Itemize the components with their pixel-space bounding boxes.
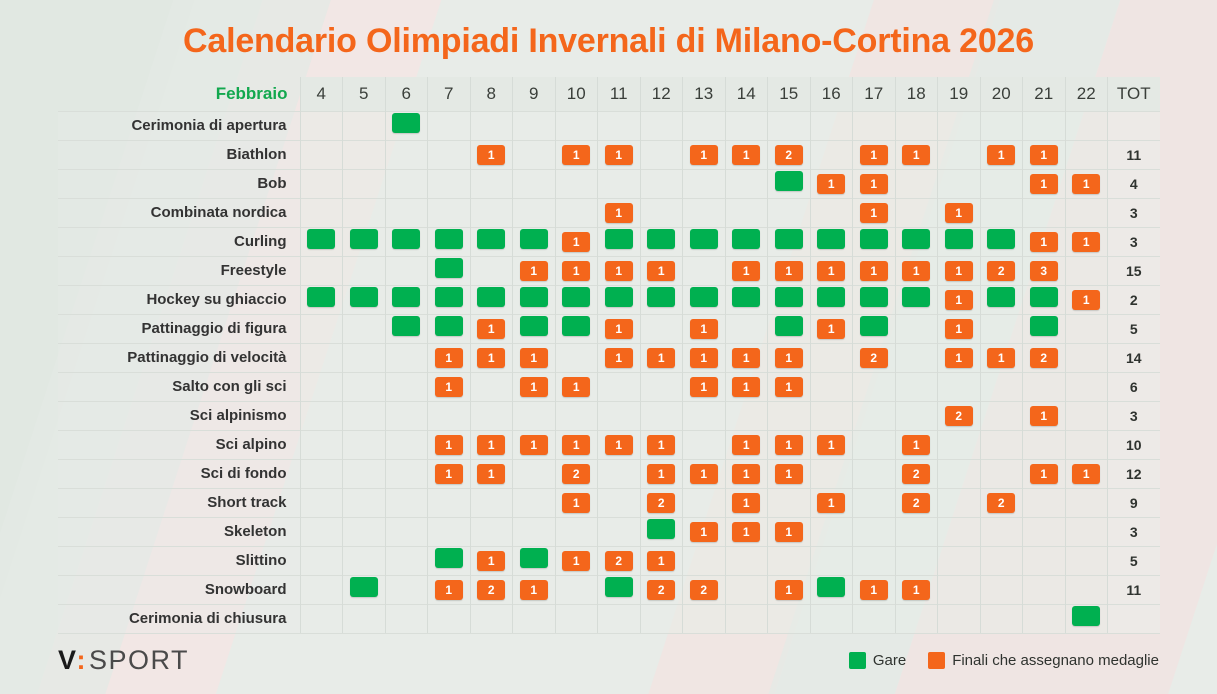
calendar-cell xyxy=(513,401,556,430)
calendar-cell[interactable]: 1 xyxy=(895,256,938,285)
calendar-cell[interactable]: 1 xyxy=(810,430,853,459)
calendar-cell[interactable]: 1 xyxy=(980,140,1023,169)
calendar-cell[interactable]: 2 xyxy=(555,459,598,488)
calendar-cell[interactable] xyxy=(895,227,938,256)
calendar-cell[interactable]: 1 xyxy=(853,140,896,169)
calendar-cell xyxy=(1023,430,1066,459)
calendar-cell[interactable]: 1 xyxy=(555,140,598,169)
calendar-cell[interactable]: 2 xyxy=(640,575,683,604)
row-total xyxy=(1108,111,1160,140)
calendar-cell[interactable]: 2 xyxy=(980,256,1023,285)
calendar-cell xyxy=(725,575,768,604)
calendar-cell[interactable]: 1 xyxy=(640,343,683,372)
calendar-cell[interactable]: 1 xyxy=(555,546,598,575)
day-header-15: 15 xyxy=(768,77,811,111)
calendar-cell[interactable]: 1 xyxy=(428,372,471,401)
calendar-infographic: Calendario Olimpiadi Invernali di Milano… xyxy=(0,0,1217,694)
calendar-cell[interactable]: 1 xyxy=(683,314,726,343)
calendar-cell[interactable]: 1 xyxy=(725,459,768,488)
gare-chip xyxy=(1030,316,1058,336)
finale-chip: 1 xyxy=(647,261,675,281)
calendar-cell xyxy=(428,604,471,633)
calendar-cell[interactable]: 1 xyxy=(768,256,811,285)
finale-chip: 1 xyxy=(775,522,803,542)
row-total: 6 xyxy=(1108,372,1160,401)
calendar-cell[interactable]: 1 xyxy=(768,575,811,604)
gare-chip xyxy=(817,577,845,597)
calendar-cell xyxy=(1023,604,1066,633)
finale-chip: 1 xyxy=(605,203,633,223)
gare-chip xyxy=(732,229,760,249)
table-row: Pattinaggio di figura111115 xyxy=(58,314,1160,343)
calendar-cell[interactable] xyxy=(343,285,386,314)
calendar-cell[interactable]: 1 xyxy=(725,517,768,546)
table-row: Skeleton1113 xyxy=(58,517,1160,546)
calendar-cell[interactable]: 1 xyxy=(853,575,896,604)
calendar-cell[interactable] xyxy=(428,285,471,314)
calendar-cell[interactable] xyxy=(640,517,683,546)
calendar-cell xyxy=(385,169,428,198)
calendar-cell[interactable] xyxy=(725,285,768,314)
calendar-cell[interactable]: 1 xyxy=(513,575,556,604)
sport-label: Freestyle xyxy=(58,256,300,285)
calendar-cell[interactable]: 1 xyxy=(640,459,683,488)
month-label: Febbraio xyxy=(58,77,300,111)
calendar-cell xyxy=(1065,401,1108,430)
finale-chip: 2 xyxy=(605,551,633,571)
calendar-cell[interactable] xyxy=(385,285,428,314)
calendar-cell[interactable]: 1 xyxy=(1065,227,1108,256)
calendar-cell xyxy=(853,517,896,546)
calendar-cell[interactable]: 1 xyxy=(938,256,981,285)
calendar-cell[interactable] xyxy=(1023,285,1066,314)
gare-chip xyxy=(902,229,930,249)
calendar-cell[interactable]: 1 xyxy=(1023,169,1066,198)
calendar-cell xyxy=(1065,256,1108,285)
calendar-cell[interactable] xyxy=(640,227,683,256)
calendar-cell xyxy=(555,111,598,140)
calendar-cell xyxy=(598,517,641,546)
gare-chip xyxy=(690,229,718,249)
row-total: 9 xyxy=(1108,488,1160,517)
gare-chip xyxy=(817,229,845,249)
calendar-cell[interactable] xyxy=(513,285,556,314)
calendar-cell[interactable]: 1 xyxy=(428,430,471,459)
calendar-cell xyxy=(555,517,598,546)
calendar-cell[interactable]: 1 xyxy=(513,256,556,285)
calendar-cell[interactable] xyxy=(428,314,471,343)
calendar-cell xyxy=(428,169,471,198)
calendar-cell[interactable]: 1 xyxy=(598,198,641,227)
calendar-cell[interactable]: 3 xyxy=(1023,256,1066,285)
calendar-cell[interactable]: 2 xyxy=(853,343,896,372)
calendar-cell[interactable]: 1 xyxy=(428,343,471,372)
calendar-cell xyxy=(343,459,386,488)
calendar-cell[interactable]: 1 xyxy=(555,256,598,285)
calendar-cell[interactable] xyxy=(343,227,386,256)
table-row: Combinata nordica1113 xyxy=(58,198,1160,227)
gare-chip xyxy=(435,229,463,249)
calendar-cell[interactable] xyxy=(853,227,896,256)
calendar-cell[interactable]: 1 xyxy=(725,256,768,285)
finale-chip: 1 xyxy=(902,580,930,600)
calendar-cell[interactable]: 1 xyxy=(555,488,598,517)
calendar-cell[interactable] xyxy=(513,314,556,343)
calendar-cell[interactable] xyxy=(853,314,896,343)
calendar-cell[interactable] xyxy=(938,227,981,256)
calendar-cell[interactable] xyxy=(428,227,471,256)
calendar-cell[interactable] xyxy=(853,285,896,314)
calendar-cell xyxy=(385,575,428,604)
calendar-cell[interactable]: 1 xyxy=(470,546,513,575)
finale-chip: 1 xyxy=(520,348,548,368)
calendar-cell[interactable]: 1 xyxy=(470,459,513,488)
calendar-cell[interactable]: 1 xyxy=(810,256,853,285)
day-header-19: 19 xyxy=(938,77,981,111)
sport-label: Hockey su ghiaccio xyxy=(58,285,300,314)
calendar-cell[interactable]: 1 xyxy=(768,459,811,488)
gare-chip xyxy=(562,287,590,307)
calendar-cell[interactable]: 1 xyxy=(598,314,641,343)
calendar-cell[interactable] xyxy=(385,111,428,140)
calendar-cell[interactable]: 1 xyxy=(470,314,513,343)
calendar-cell[interactable] xyxy=(768,314,811,343)
calendar-cell[interactable]: 1 xyxy=(683,517,726,546)
finale-chip: 1 xyxy=(1072,290,1100,310)
calendar-cell xyxy=(895,401,938,430)
gare-chip xyxy=(605,577,633,597)
calendar-cell[interactable] xyxy=(513,546,556,575)
calendar-cell[interactable]: 1 xyxy=(725,372,768,401)
gare-chip xyxy=(350,577,378,597)
finale-chip: 1 xyxy=(435,464,463,484)
calendar-cell xyxy=(428,517,471,546)
finale-chip: 1 xyxy=(562,435,590,455)
calendar-cell[interactable]: 1 xyxy=(513,430,556,459)
finale-chip: 1 xyxy=(945,348,973,368)
sport-label: Combinata nordica xyxy=(58,198,300,227)
calendar-cell xyxy=(385,604,428,633)
calendar-cell[interactable] xyxy=(683,285,726,314)
finale-chip: 1 xyxy=(775,580,803,600)
calendar-cell[interactable] xyxy=(810,227,853,256)
finale-chip: 1 xyxy=(435,348,463,368)
finale-chip: 2 xyxy=(987,261,1015,281)
calendar-cell xyxy=(343,372,386,401)
finale-chip: 1 xyxy=(690,522,718,542)
calendar-cell[interactable]: 1 xyxy=(895,575,938,604)
gare-chip xyxy=(987,229,1015,249)
table-row: Pattinaggio di velocità11111111211214 xyxy=(58,343,1160,372)
calendar-cell[interactable] xyxy=(810,285,853,314)
calendar-cell xyxy=(513,604,556,633)
calendar-cell[interactable]: 1 xyxy=(853,256,896,285)
calendar-cell[interactable]: 1 xyxy=(428,575,471,604)
calendar-cell[interactable]: 1 xyxy=(470,140,513,169)
calendar-cell[interactable]: 1 xyxy=(598,256,641,285)
finale-chip: 2 xyxy=(902,464,930,484)
calendar-cell[interactable] xyxy=(470,227,513,256)
calendar-cell xyxy=(853,111,896,140)
calendar-cell[interactable]: 2 xyxy=(938,401,981,430)
calendar-cell xyxy=(300,430,343,459)
calendar-cell[interactable] xyxy=(768,285,811,314)
finale-chip: 1 xyxy=(647,551,675,571)
sport-label: Skeleton xyxy=(58,517,300,546)
finale-chip: 1 xyxy=(477,319,505,339)
calendar-cell xyxy=(300,343,343,372)
sport-label: Pattinaggio di figura xyxy=(58,314,300,343)
legend-swatch-finali-icon xyxy=(928,652,945,669)
calendar-cell[interactable] xyxy=(980,285,1023,314)
gare-chip xyxy=(307,229,335,249)
calendar-cell xyxy=(1023,546,1066,575)
calendar-cell xyxy=(385,488,428,517)
calendar-cell[interactable]: 2 xyxy=(640,488,683,517)
calendar-cell[interactable] xyxy=(300,285,343,314)
calendar-cell[interactable]: 2 xyxy=(980,488,1023,517)
calendar-cell[interactable]: 1 xyxy=(1065,285,1108,314)
calendar-cell[interactable] xyxy=(598,575,641,604)
table-row: Cerimonia di apertura xyxy=(58,111,1160,140)
calendar-cell[interactable]: 1 xyxy=(1065,169,1108,198)
calendar-cell[interactable] xyxy=(343,575,386,604)
row-total: 2 xyxy=(1108,285,1160,314)
finale-chip: 1 xyxy=(945,261,973,281)
calendar-cell[interactable]: 1 xyxy=(555,372,598,401)
calendar-cell[interactable]: 1 xyxy=(725,140,768,169)
calendar-cell xyxy=(938,140,981,169)
calendar-cell[interactable]: 1 xyxy=(895,140,938,169)
row-total: 14 xyxy=(1108,343,1160,372)
finale-chip: 3 xyxy=(1030,261,1058,281)
table-row: Sci alpinismo213 xyxy=(58,401,1160,430)
calendar-cell[interactable]: 1 xyxy=(598,430,641,459)
calendar-cell[interactable] xyxy=(895,285,938,314)
calendar-cell[interactable] xyxy=(725,227,768,256)
calendar-cell[interactable]: 2 xyxy=(895,488,938,517)
row-total xyxy=(1108,604,1160,633)
calendar-cell[interactable] xyxy=(598,227,641,256)
sport-label: Curling xyxy=(58,227,300,256)
calendar-cell xyxy=(343,343,386,372)
calendar-cell xyxy=(598,401,641,430)
calendar-cell[interactable]: 1 xyxy=(683,459,726,488)
gare-chip xyxy=(350,229,378,249)
calendar-cell[interactable]: 1 xyxy=(810,488,853,517)
calendar-cell xyxy=(300,459,343,488)
calendar-cell[interactable]: 1 xyxy=(683,372,726,401)
calendar-cell xyxy=(385,198,428,227)
calendar-cell[interactable] xyxy=(385,227,428,256)
finale-chip: 1 xyxy=(1030,464,1058,484)
calendar-cell[interactable]: 1 xyxy=(1023,459,1066,488)
calendar-cell[interactable]: 1 xyxy=(1065,459,1108,488)
calendar-cell[interactable]: 1 xyxy=(640,430,683,459)
calendar-cell[interactable] xyxy=(555,285,598,314)
calendar-cell xyxy=(513,459,556,488)
calendar-cell[interactable]: 2 xyxy=(895,459,938,488)
calendar-cell[interactable] xyxy=(598,285,641,314)
calendar-cell[interactable] xyxy=(300,227,343,256)
footer: V:SPORT Gare Finali che assegnano medagl… xyxy=(58,645,1159,676)
calendar-cell xyxy=(385,372,428,401)
calendar-cell[interactable]: 1 xyxy=(938,285,981,314)
calendar-cell[interactable]: 1 xyxy=(768,343,811,372)
day-header-21: 21 xyxy=(1023,77,1066,111)
page-title: Calendario Olimpiadi Invernali di Milano… xyxy=(58,0,1159,61)
calendar-cell[interactable]: 1 xyxy=(513,343,556,372)
finale-chip: 1 xyxy=(562,377,590,397)
calendar-cell[interactable]: 1 xyxy=(980,343,1023,372)
calendar-cell[interactable]: 1 xyxy=(810,169,853,198)
calendar-cell[interactable]: 1 xyxy=(683,343,726,372)
calendar-cell[interactable]: 2 xyxy=(683,575,726,604)
gare-chip xyxy=(775,287,803,307)
calendar-cell[interactable]: 1 xyxy=(555,227,598,256)
calendar-cell xyxy=(1023,372,1066,401)
finale-chip: 1 xyxy=(647,435,675,455)
calendar-cell[interactable]: 1 xyxy=(1023,227,1066,256)
calendar-cell xyxy=(470,401,513,430)
finale-chip: 1 xyxy=(690,145,718,165)
calendar-cell xyxy=(980,169,1023,198)
day-header-16: 16 xyxy=(810,77,853,111)
finale-chip: 2 xyxy=(902,493,930,513)
calendar-cell[interactable]: 1 xyxy=(470,343,513,372)
calendar-cell[interactable] xyxy=(768,227,811,256)
calendar-cell[interactable]: 1 xyxy=(810,314,853,343)
finale-chip: 2 xyxy=(945,406,973,426)
calendar-cell[interactable]: 1 xyxy=(428,459,471,488)
calendar-cell xyxy=(640,401,683,430)
calendar-cell[interactable]: 1 xyxy=(640,546,683,575)
calendar-cell xyxy=(853,546,896,575)
calendar-cell[interactable] xyxy=(1065,604,1108,633)
calendar-cell[interactable]: 1 xyxy=(938,314,981,343)
table-row: Freestyle11111111112315 xyxy=(58,256,1160,285)
calendar-cell[interactable]: 1 xyxy=(513,372,556,401)
calendar-cell[interactable] xyxy=(980,227,1023,256)
finale-chip: 1 xyxy=(732,435,760,455)
calendar-cell[interactable]: 2 xyxy=(1023,343,1066,372)
calendar-cell xyxy=(725,169,768,198)
day-header-12: 12 xyxy=(640,77,683,111)
calendar-cell xyxy=(895,604,938,633)
day-header-13: 13 xyxy=(683,77,726,111)
calendar-cell[interactable]: 1 xyxy=(853,169,896,198)
calendar-cell[interactable]: 1 xyxy=(768,372,811,401)
calendar-cell[interactable]: 1 xyxy=(725,343,768,372)
calendar-cell xyxy=(810,372,853,401)
finale-chip: 1 xyxy=(562,232,590,252)
calendar-cell xyxy=(683,169,726,198)
calendar-cell[interactable] xyxy=(555,314,598,343)
calendar-cell[interactable]: 1 xyxy=(725,430,768,459)
calendar-cell xyxy=(300,488,343,517)
calendar-cell[interactable]: 1 xyxy=(683,140,726,169)
calendar-cell xyxy=(768,111,811,140)
calendar-cell[interactable] xyxy=(385,314,428,343)
calendar-cell[interactable] xyxy=(683,227,726,256)
finale-chip: 1 xyxy=(605,348,633,368)
gare-chip xyxy=(647,519,675,539)
calendar-cell[interactable] xyxy=(513,227,556,256)
table-row: Biathlon111112111111 xyxy=(58,140,1160,169)
calendar-cell[interactable]: 1 xyxy=(895,430,938,459)
logo-sport: SPORT xyxy=(89,645,189,676)
calendar-cell[interactable] xyxy=(428,256,471,285)
finale-chip: 1 xyxy=(477,435,505,455)
calendar-cell xyxy=(513,198,556,227)
calendar-cell xyxy=(1023,111,1066,140)
calendar-cell[interactable]: 1 xyxy=(598,140,641,169)
gare-chip xyxy=(605,229,633,249)
calendar-cell[interactable] xyxy=(768,169,811,198)
calendar-cell[interactable] xyxy=(428,546,471,575)
calendar-cell xyxy=(725,198,768,227)
calendar-cell[interactable]: 2 xyxy=(768,140,811,169)
calendar-cell[interactable]: 1 xyxy=(598,343,641,372)
calendar-cell[interactable]: 1 xyxy=(1023,401,1066,430)
calendar-cell xyxy=(1065,517,1108,546)
calendar-cell xyxy=(938,430,981,459)
table-row: Short track1211229 xyxy=(58,488,1160,517)
calendar-cell xyxy=(385,140,428,169)
calendar-cell xyxy=(300,604,343,633)
table-row: Sci di fondo112111121112 xyxy=(58,459,1160,488)
day-header-10: 10 xyxy=(555,77,598,111)
calendar-cell[interactable]: 2 xyxy=(598,546,641,575)
finale-chip: 2 xyxy=(647,580,675,600)
calendar-cell[interactable] xyxy=(1023,314,1066,343)
finale-chip: 1 xyxy=(817,319,845,339)
calendar-cell[interactable]: 1 xyxy=(555,430,598,459)
calendar-cell[interactable]: 1 xyxy=(470,430,513,459)
calendar-cell xyxy=(555,169,598,198)
calendar-cell xyxy=(725,401,768,430)
calendar-cell[interactable] xyxy=(810,575,853,604)
calendar-cell xyxy=(980,198,1023,227)
calendar-cell xyxy=(895,343,938,372)
calendar-cell xyxy=(683,401,726,430)
calendar-cell[interactable]: 1 xyxy=(768,517,811,546)
calendar-cell[interactable]: 1 xyxy=(768,430,811,459)
calendar-cell xyxy=(300,111,343,140)
calendar-cell xyxy=(343,314,386,343)
finale-chip: 1 xyxy=(562,261,590,281)
calendar-cell xyxy=(300,140,343,169)
calendar-cell[interactable]: 1 xyxy=(938,343,981,372)
calendar-cell xyxy=(768,488,811,517)
calendar-cell[interactable]: 1 xyxy=(1023,140,1066,169)
calendar-cell xyxy=(938,575,981,604)
calendar-cell[interactable]: 1 xyxy=(853,198,896,227)
calendar-cell xyxy=(980,401,1023,430)
calendar-cell[interactable]: 2 xyxy=(470,575,513,604)
calendar-cell[interactable] xyxy=(470,285,513,314)
calendar-cell xyxy=(343,604,386,633)
calendar-cell[interactable]: 1 xyxy=(938,198,981,227)
calendar-cell[interactable] xyxy=(640,285,683,314)
calendar-cell xyxy=(1065,198,1108,227)
finale-chip: 1 xyxy=(860,261,888,281)
calendar-cell xyxy=(300,517,343,546)
calendar-cell[interactable]: 1 xyxy=(725,488,768,517)
finale-chip: 1 xyxy=(987,348,1015,368)
gare-chip xyxy=(392,287,420,307)
calendar-cell[interactable]: 1 xyxy=(640,256,683,285)
